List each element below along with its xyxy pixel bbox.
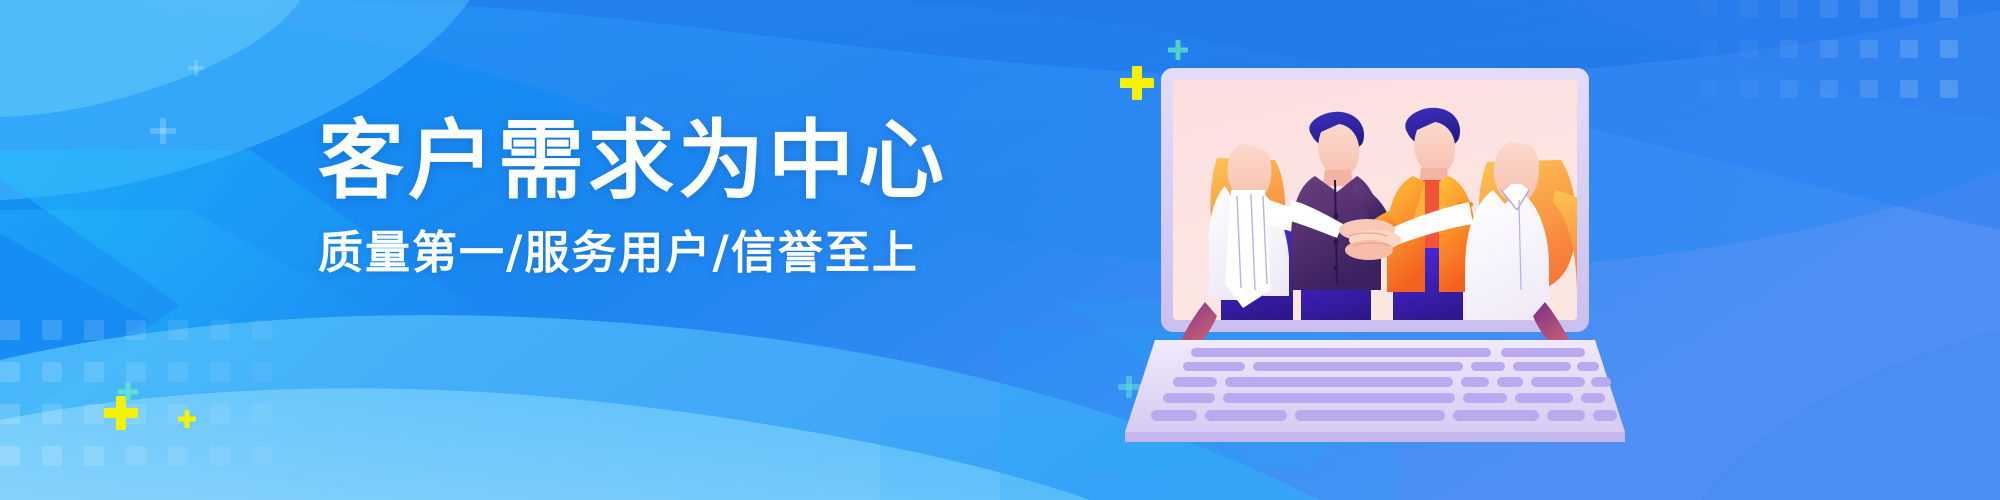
grid-dot bbox=[1780, 0, 1798, 18]
plus-yellow-small-left-icon bbox=[178, 410, 196, 428]
grid-dot bbox=[1900, 0, 1918, 18]
grid-dot bbox=[42, 362, 62, 382]
grid-dot bbox=[42, 446, 62, 466]
grid-dot bbox=[126, 446, 146, 466]
grid-dot bbox=[1700, 40, 1718, 58]
plus-white-top-left-icon bbox=[188, 60, 204, 76]
promo-banner: 客户需求为中心 质量第一/服务用户/信誉至上 bbox=[0, 0, 2000, 500]
grid-dot bbox=[0, 320, 20, 340]
grid-dot bbox=[210, 446, 230, 466]
plus-yellow-large-left-icon bbox=[104, 396, 138, 430]
grid-dot bbox=[1860, 40, 1878, 58]
grid-dot bbox=[0, 446, 20, 466]
grid-dot bbox=[1900, 80, 1918, 98]
headline-block: 客户需求为中心 质量第一/服务用户/信誉至上 bbox=[318, 118, 1058, 275]
grid-dot bbox=[1780, 40, 1798, 58]
grid-dot bbox=[1820, 40, 1838, 58]
grid-dot bbox=[210, 404, 230, 424]
grid-dot bbox=[84, 446, 104, 466]
laptop-base-lip bbox=[1125, 432, 1625, 442]
grid-dot bbox=[1860, 0, 1878, 18]
grid-dot bbox=[1820, 0, 1838, 18]
grid-dot bbox=[42, 320, 62, 340]
grid-dot bbox=[1940, 80, 1958, 98]
grid-dot bbox=[168, 362, 188, 382]
grid-dot bbox=[1700, 80, 1718, 98]
grid-dot bbox=[126, 404, 146, 424]
grid-dot bbox=[84, 320, 104, 340]
grid-dot bbox=[1700, 0, 1718, 18]
grid-dot bbox=[1900, 40, 1918, 58]
banner-subline: 质量第一/服务用户/信誉至上 bbox=[318, 230, 1058, 275]
plus-teal-left-icon bbox=[118, 382, 138, 402]
grid-dot bbox=[168, 446, 188, 466]
laptop-team-illustration bbox=[1125, 40, 1625, 460]
grid-dot bbox=[126, 362, 146, 382]
grid-dot bbox=[1820, 80, 1838, 98]
grid-dot bbox=[252, 404, 272, 424]
dot-grid-bottom-left bbox=[0, 320, 310, 500]
grid-dot bbox=[252, 446, 272, 466]
grid-dot bbox=[210, 362, 230, 382]
grid-dot bbox=[1740, 80, 1758, 98]
grid-dot bbox=[1780, 80, 1798, 98]
grid-dot bbox=[210, 320, 230, 340]
grid-dot bbox=[1740, 40, 1758, 58]
grid-dot bbox=[126, 320, 146, 340]
plus-white-upper-left-icon bbox=[150, 118, 176, 144]
grid-dot bbox=[84, 404, 104, 424]
grid-dot bbox=[0, 362, 20, 382]
banner-headline: 客户需求为中心 bbox=[318, 118, 1058, 204]
grid-dot bbox=[0, 404, 20, 424]
grid-dot bbox=[252, 320, 272, 340]
grid-dot bbox=[1940, 40, 1958, 58]
grid-dot bbox=[42, 404, 62, 424]
grid-dot bbox=[1940, 0, 1958, 18]
grid-dot bbox=[1740, 0, 1758, 18]
dot-grid-top-right bbox=[1700, 0, 2000, 135]
grid-dot bbox=[252, 362, 272, 382]
grid-dot bbox=[168, 404, 188, 424]
grid-dot bbox=[1860, 80, 1878, 98]
grid-dot bbox=[168, 320, 188, 340]
grid-dot bbox=[84, 362, 104, 382]
